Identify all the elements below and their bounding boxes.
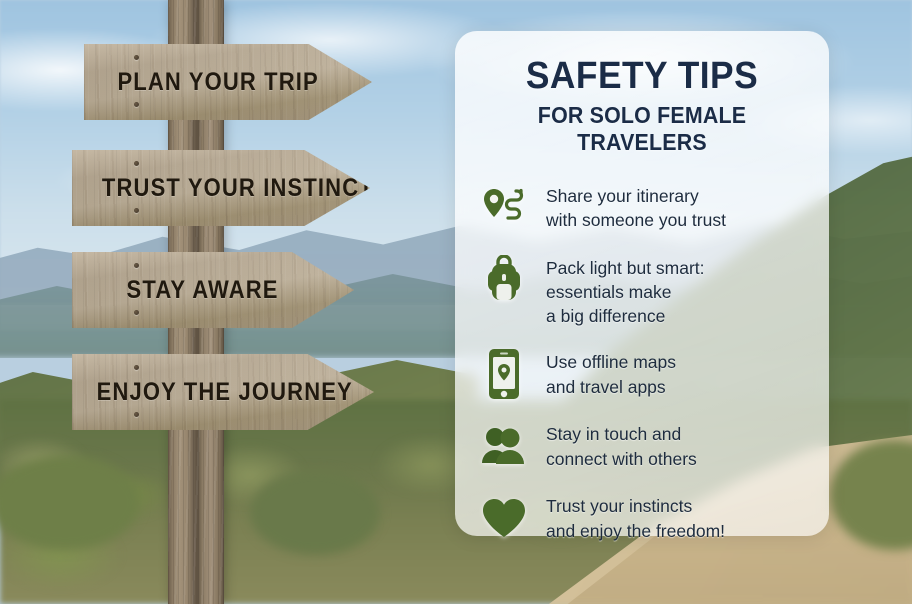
- two-people-icon: [481, 420, 527, 472]
- sign-label: TRUST YOUR INSTINCTS: [72, 174, 390, 203]
- heart-icon: [481, 492, 527, 544]
- panel-subtitle: FOR SOLO FEMALE TRAVELERS: [492, 102, 791, 156]
- screw-icon: [134, 208, 139, 213]
- tip-line: a big difference: [546, 304, 705, 328]
- tip-line: Trust your instincts: [546, 494, 725, 518]
- screw-icon: [134, 55, 139, 60]
- backpack-icon: [481, 254, 527, 306]
- smartphone-map-icon: [481, 348, 527, 400]
- screw-icon: [134, 412, 139, 417]
- screw-icon: [134, 263, 139, 268]
- tip-item: Share your itinerary with someone you tr…: [481, 182, 803, 234]
- tip-item: Pack light but smart: essentials make a …: [481, 254, 803, 328]
- tip-line: Stay in touch and: [546, 422, 697, 446]
- tips-list: Share your itinerary with someone you tr…: [481, 182, 803, 544]
- tip-line: and travel apps: [546, 375, 676, 399]
- screw-icon: [134, 310, 139, 315]
- tip-line: essentials make: [546, 280, 705, 304]
- tip-text: Use offline maps and travel apps: [546, 348, 676, 398]
- tip-line: Use offline maps: [546, 350, 676, 374]
- tip-text: Stay in touch and connect with others: [546, 420, 697, 470]
- panel-title: SAFETY TIPS: [492, 57, 791, 95]
- tip-line: and enjoy the freedom!: [546, 519, 725, 543]
- tip-text: Share your itinerary with someone you tr…: [546, 182, 726, 232]
- tip-line: with someone you trust: [546, 208, 726, 232]
- tip-item: Use offline maps and travel apps: [481, 348, 803, 400]
- tip-line: Pack light but smart:: [546, 256, 705, 280]
- tip-line: connect with others: [546, 447, 697, 471]
- map-pin-route-icon: [481, 182, 527, 234]
- bush-center: [250, 470, 380, 555]
- screw-icon: [134, 161, 139, 166]
- tip-line: Share your itinerary: [546, 184, 726, 208]
- sign-label: PLAN YOUR TRIP: [84, 68, 319, 97]
- scene-canvas: PLAN YOUR TRIP TRUST YOUR INSTINCTS STAY…: [0, 0, 912, 604]
- tip-text: Trust your instincts and enjoy the freed…: [546, 492, 725, 542]
- safety-tips-panel: SAFETY TIPS FOR SOLO FEMALE TRAVELERS Sh…: [455, 31, 829, 536]
- sign-label: ENJOY THE JOURNEY: [72, 378, 353, 407]
- tip-item: Trust your instincts and enjoy the freed…: [481, 492, 803, 544]
- screw-icon: [134, 365, 139, 370]
- screw-icon: [134, 102, 139, 107]
- tip-text: Pack light but smart: essentials make a …: [546, 254, 705, 328]
- tip-item: Stay in touch and connect with others: [481, 420, 803, 472]
- sign-label: STAY AWARE: [72, 276, 279, 305]
